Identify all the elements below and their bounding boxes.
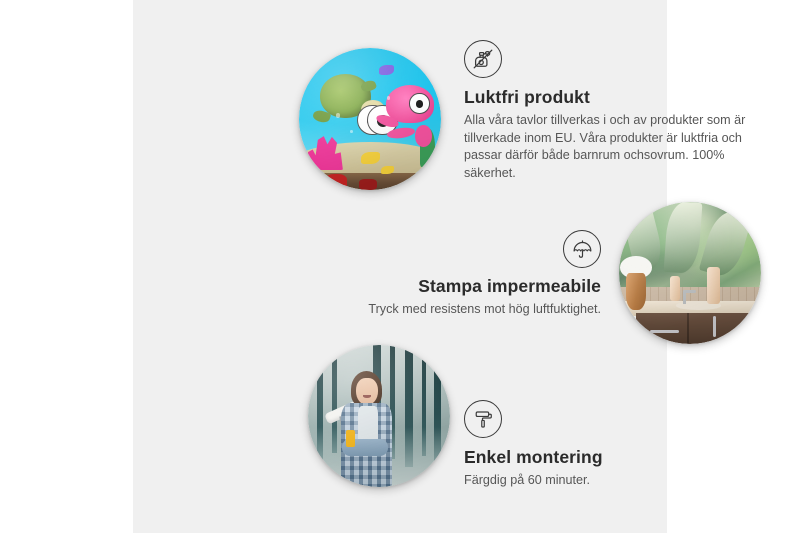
bathroom-faucet-stem <box>683 291 686 304</box>
installer-handheld-tool <box>346 430 355 447</box>
feature-odourless-icon-wrap <box>464 40 764 78</box>
feature-odourless-body: Alla våra tavlor tillverkas i och av pro… <box>464 112 756 182</box>
bathroom-vanity <box>636 313 761 344</box>
feature-waterproof-icon-wrap <box>339 230 601 268</box>
screenshot-canvas: Luktfri produkt Alla våra tavlor tillver… <box>0 0 800 533</box>
feature-waterproof-title: Stampa impermeabile <box>339 276 601 297</box>
feature-odourless: Luktfri produkt Alla våra tavlor tillver… <box>464 40 764 182</box>
aquarium-red-object-1 <box>325 174 348 188</box>
feature-waterproof: Stampa impermeabile Tryck med resistens … <box>339 230 601 319</box>
aquarium-bubble-1 <box>336 113 340 117</box>
product-feature-panel: Luktfri produkt Alla våra tavlor tillver… <box>133 0 667 533</box>
product-photo-bathroom[interactable] <box>619 202 761 344</box>
vanity-drawer-handle <box>650 330 678 334</box>
product-photo-installer[interactable] <box>308 345 450 487</box>
bathroom-bottle-2 <box>707 267 720 304</box>
product-photo-aquarium[interactable] <box>299 48 441 190</box>
bathroom-vase <box>626 273 646 310</box>
no-perfume-icon <box>464 40 502 78</box>
installer-face <box>356 378 377 405</box>
paint-roller-icon <box>464 400 502 438</box>
bathroom-faucet-spout <box>683 290 696 293</box>
vanity-seam <box>687 313 689 344</box>
umbrella-icon <box>563 230 601 268</box>
aquarium-red-object-2 <box>359 179 377 190</box>
feature-easymount-icon-wrap <box>464 400 714 438</box>
feature-odourless-title: Luktfri produkt <box>464 87 764 108</box>
bathroom-bottle-1 <box>670 276 680 302</box>
feature-easymount-body: Färgdig på 60 minuter. <box>464 472 714 490</box>
feature-easymount-title: Enkel montering <box>464 447 714 468</box>
bathroom-image <box>619 202 761 344</box>
aquarium-fish-purple <box>379 65 395 75</box>
installer-tshirt <box>358 406 378 443</box>
vanity-door-handle <box>713 316 717 337</box>
aquarium-image <box>299 48 441 190</box>
octopus-eye <box>409 93 429 113</box>
installer-image <box>308 345 450 487</box>
feature-easymount: Enkel montering Färgdig på 60 minuter. <box>464 400 714 490</box>
feature-waterproof-body: Tryck med resistens mot hög luftfuktighe… <box>339 301 601 319</box>
